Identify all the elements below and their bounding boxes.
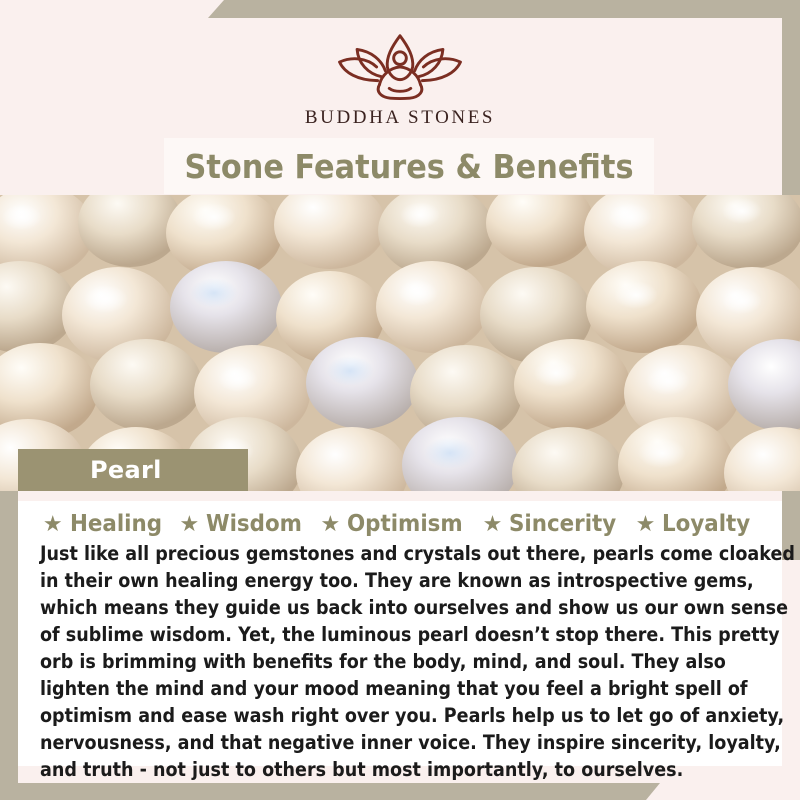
benefit-item: ★ Wisdom bbox=[180, 511, 310, 537]
page-title: Stone Features & Benefits bbox=[184, 147, 633, 186]
stone-name-text: Pearl bbox=[90, 456, 162, 484]
benefit-item: ★ Healing bbox=[43, 511, 169, 537]
benefit-label: Wisdom bbox=[206, 511, 302, 537]
benefit-item: ★ Sincerity bbox=[483, 511, 625, 537]
brand-wordmark: BUDDHA STONES bbox=[305, 107, 495, 129]
benefit-item: ★ Loyalty bbox=[636, 511, 758, 537]
decorative-frame-bottom bbox=[0, 783, 660, 800]
decorative-frame-top bbox=[208, 0, 800, 18]
content-panel: ★ Healing ★ Wisdom ★ Optimism ★ Sincerit… bbox=[18, 501, 782, 766]
stone-benefits-infographic: BUDDHA STONES Stone Features & Benefits bbox=[0, 0, 800, 800]
stone-name-label: Pearl bbox=[18, 449, 248, 491]
benefit-label: Sincerity bbox=[509, 511, 616, 537]
brand-logo: BUDDHA STONES bbox=[18, 18, 782, 138]
star-icon: ★ bbox=[636, 513, 656, 535]
hero-photo: Pearl bbox=[0, 195, 800, 491]
star-icon: ★ bbox=[483, 513, 503, 535]
benefit-label: Healing bbox=[70, 511, 162, 537]
benefit-label: Loyalty bbox=[662, 511, 750, 537]
lotus-meditation-figure-icon bbox=[325, 26, 475, 104]
star-icon: ★ bbox=[43, 513, 63, 535]
page-surface: BUDDHA STONES Stone Features & Benefits bbox=[18, 18, 782, 783]
benefit-item: ★ Optimism bbox=[320, 511, 471, 537]
benefits-list: ★ Healing ★ Wisdom ★ Optimism ★ Sincerit… bbox=[18, 501, 782, 537]
pearls-photo-illustration bbox=[0, 195, 800, 491]
star-icon: ★ bbox=[180, 513, 200, 535]
star-icon: ★ bbox=[320, 513, 340, 535]
benefit-label: Optimism bbox=[347, 511, 463, 537]
stone-description: Just like all precious gemstones and cry… bbox=[40, 541, 795, 784]
title-banner: Stone Features & Benefits bbox=[164, 138, 654, 194]
